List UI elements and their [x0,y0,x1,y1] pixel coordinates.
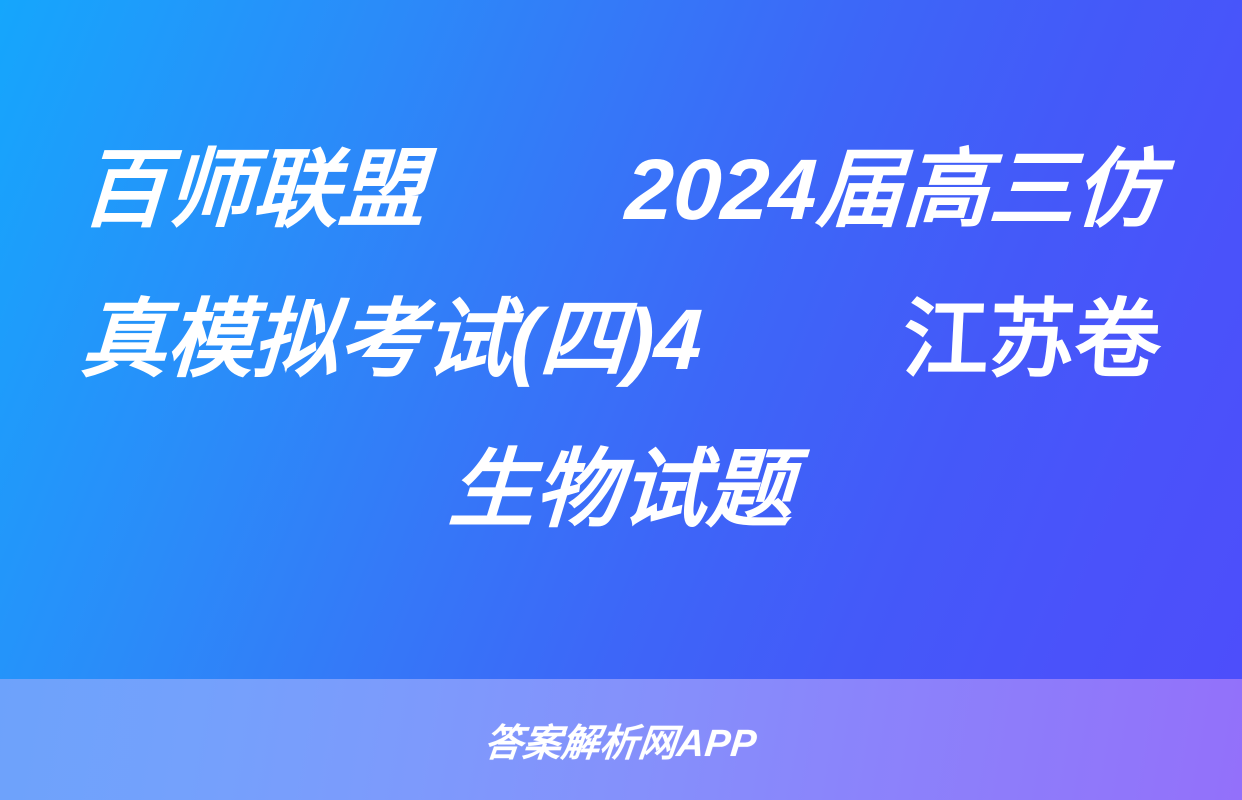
title-segment-year-grade: 2024届高三仿 [622,115,1165,265]
title-line-1: 百师联盟 2024届高三仿 [77,115,1165,265]
exam-title-block: 百师联盟 2024届高三仿 真模拟考试(四)4 江苏卷 生物试题 [0,0,1242,679]
title-segment-exam-name-round: 真模拟考试(四)4 [77,265,706,415]
title-line-3: 生物试题 [445,415,797,565]
title-segment-exam-series: 百师联盟 [77,115,429,265]
title-segment-subject: 生物试题 [446,442,795,538]
title-segment-region: 江苏卷 [899,265,1165,415]
watermark-container: 答案解析网APP [0,679,1242,800]
exam-cover-page: 百师联盟 2024届高三仿 真模拟考试(四)4 江苏卷 生物试题 答案解析网AP… [0,0,1242,800]
title-line-2: 真模拟考试(四)4 江苏卷 [77,265,1165,415]
app-watermark-label: 答案解析网APP [482,712,760,767]
